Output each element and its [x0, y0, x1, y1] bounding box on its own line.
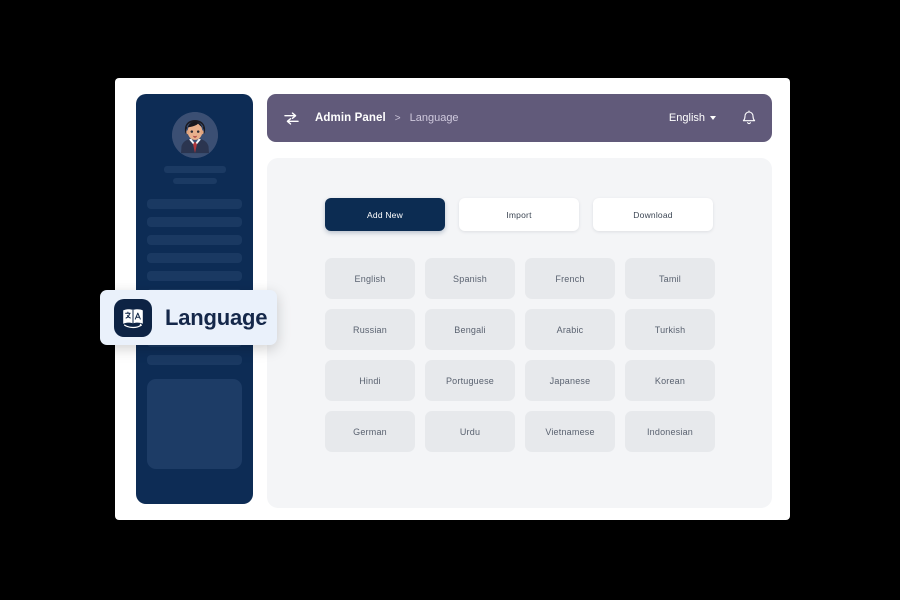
- translate-icon: [114, 299, 152, 337]
- sidebar-username-placeholder: [164, 166, 226, 173]
- language-chip[interactable]: French: [525, 258, 615, 299]
- language-chip[interactable]: Turkish: [625, 309, 715, 350]
- language-chip[interactable]: Russian: [325, 309, 415, 350]
- header-bar: Admin Panel > Language English: [267, 94, 772, 142]
- sidebar-nav-placeholder[interactable]: [147, 199, 242, 209]
- add-new-button[interactable]: Add New: [325, 198, 445, 231]
- language-chip[interactable]: German: [325, 411, 415, 452]
- bell-icon[interactable]: [742, 110, 756, 126]
- language-chip[interactable]: Arabic: [525, 309, 615, 350]
- language-chip[interactable]: Hindi: [325, 360, 415, 401]
- sidebar-nav-placeholder[interactable]: [147, 217, 242, 227]
- sidebar-nav-placeholder[interactable]: [147, 253, 242, 263]
- avatar[interactable]: [172, 112, 218, 158]
- header-language-select[interactable]: English: [669, 112, 716, 124]
- language-chip[interactable]: Korean: [625, 360, 715, 401]
- header-actions: English: [669, 110, 756, 126]
- swap-icon[interactable]: [284, 111, 299, 126]
- language-grid: English Spanish French Tamil Russian Ben…: [325, 258, 715, 452]
- language-chip[interactable]: Tamil: [625, 258, 715, 299]
- sidebar-role-placeholder: [173, 178, 217, 184]
- breadcrumb-root[interactable]: Admin Panel: [315, 112, 386, 124]
- breadcrumb-current: Language: [410, 112, 459, 124]
- screenshot-canvas: Admin Panel > Language English: [0, 0, 900, 600]
- chevron-down-icon: [710, 116, 716, 120]
- language-feature-badge: Language: [100, 290, 277, 345]
- content-panel: Add New Import Download English Spanish …: [267, 158, 772, 508]
- action-buttons: Add New Import Download: [325, 198, 713, 231]
- language-chip[interactable]: Portuguese: [425, 360, 515, 401]
- language-chip[interactable]: Vietnamese: [525, 411, 615, 452]
- sidebar-nav-placeholder[interactable]: [147, 235, 242, 245]
- sidebar-nav-placeholder[interactable]: [147, 355, 242, 365]
- download-button[interactable]: Download: [593, 198, 713, 231]
- badge-label: Language: [165, 305, 267, 331]
- sidebar-nav-placeholder[interactable]: [147, 271, 242, 281]
- language-chip[interactable]: Indonesian: [625, 411, 715, 452]
- sidebar-footer-block: [147, 379, 242, 469]
- breadcrumb-separator: >: [395, 113, 401, 124]
- language-chip[interactable]: Spanish: [425, 258, 515, 299]
- breadcrumb: Admin Panel > Language: [315, 112, 459, 124]
- import-button[interactable]: Import: [459, 198, 579, 231]
- language-chip[interactable]: Bengali: [425, 309, 515, 350]
- language-chip[interactable]: English: [325, 258, 415, 299]
- language-chip[interactable]: Japanese: [525, 360, 615, 401]
- language-chip[interactable]: Urdu: [425, 411, 515, 452]
- header-language-value: English: [669, 112, 705, 124]
